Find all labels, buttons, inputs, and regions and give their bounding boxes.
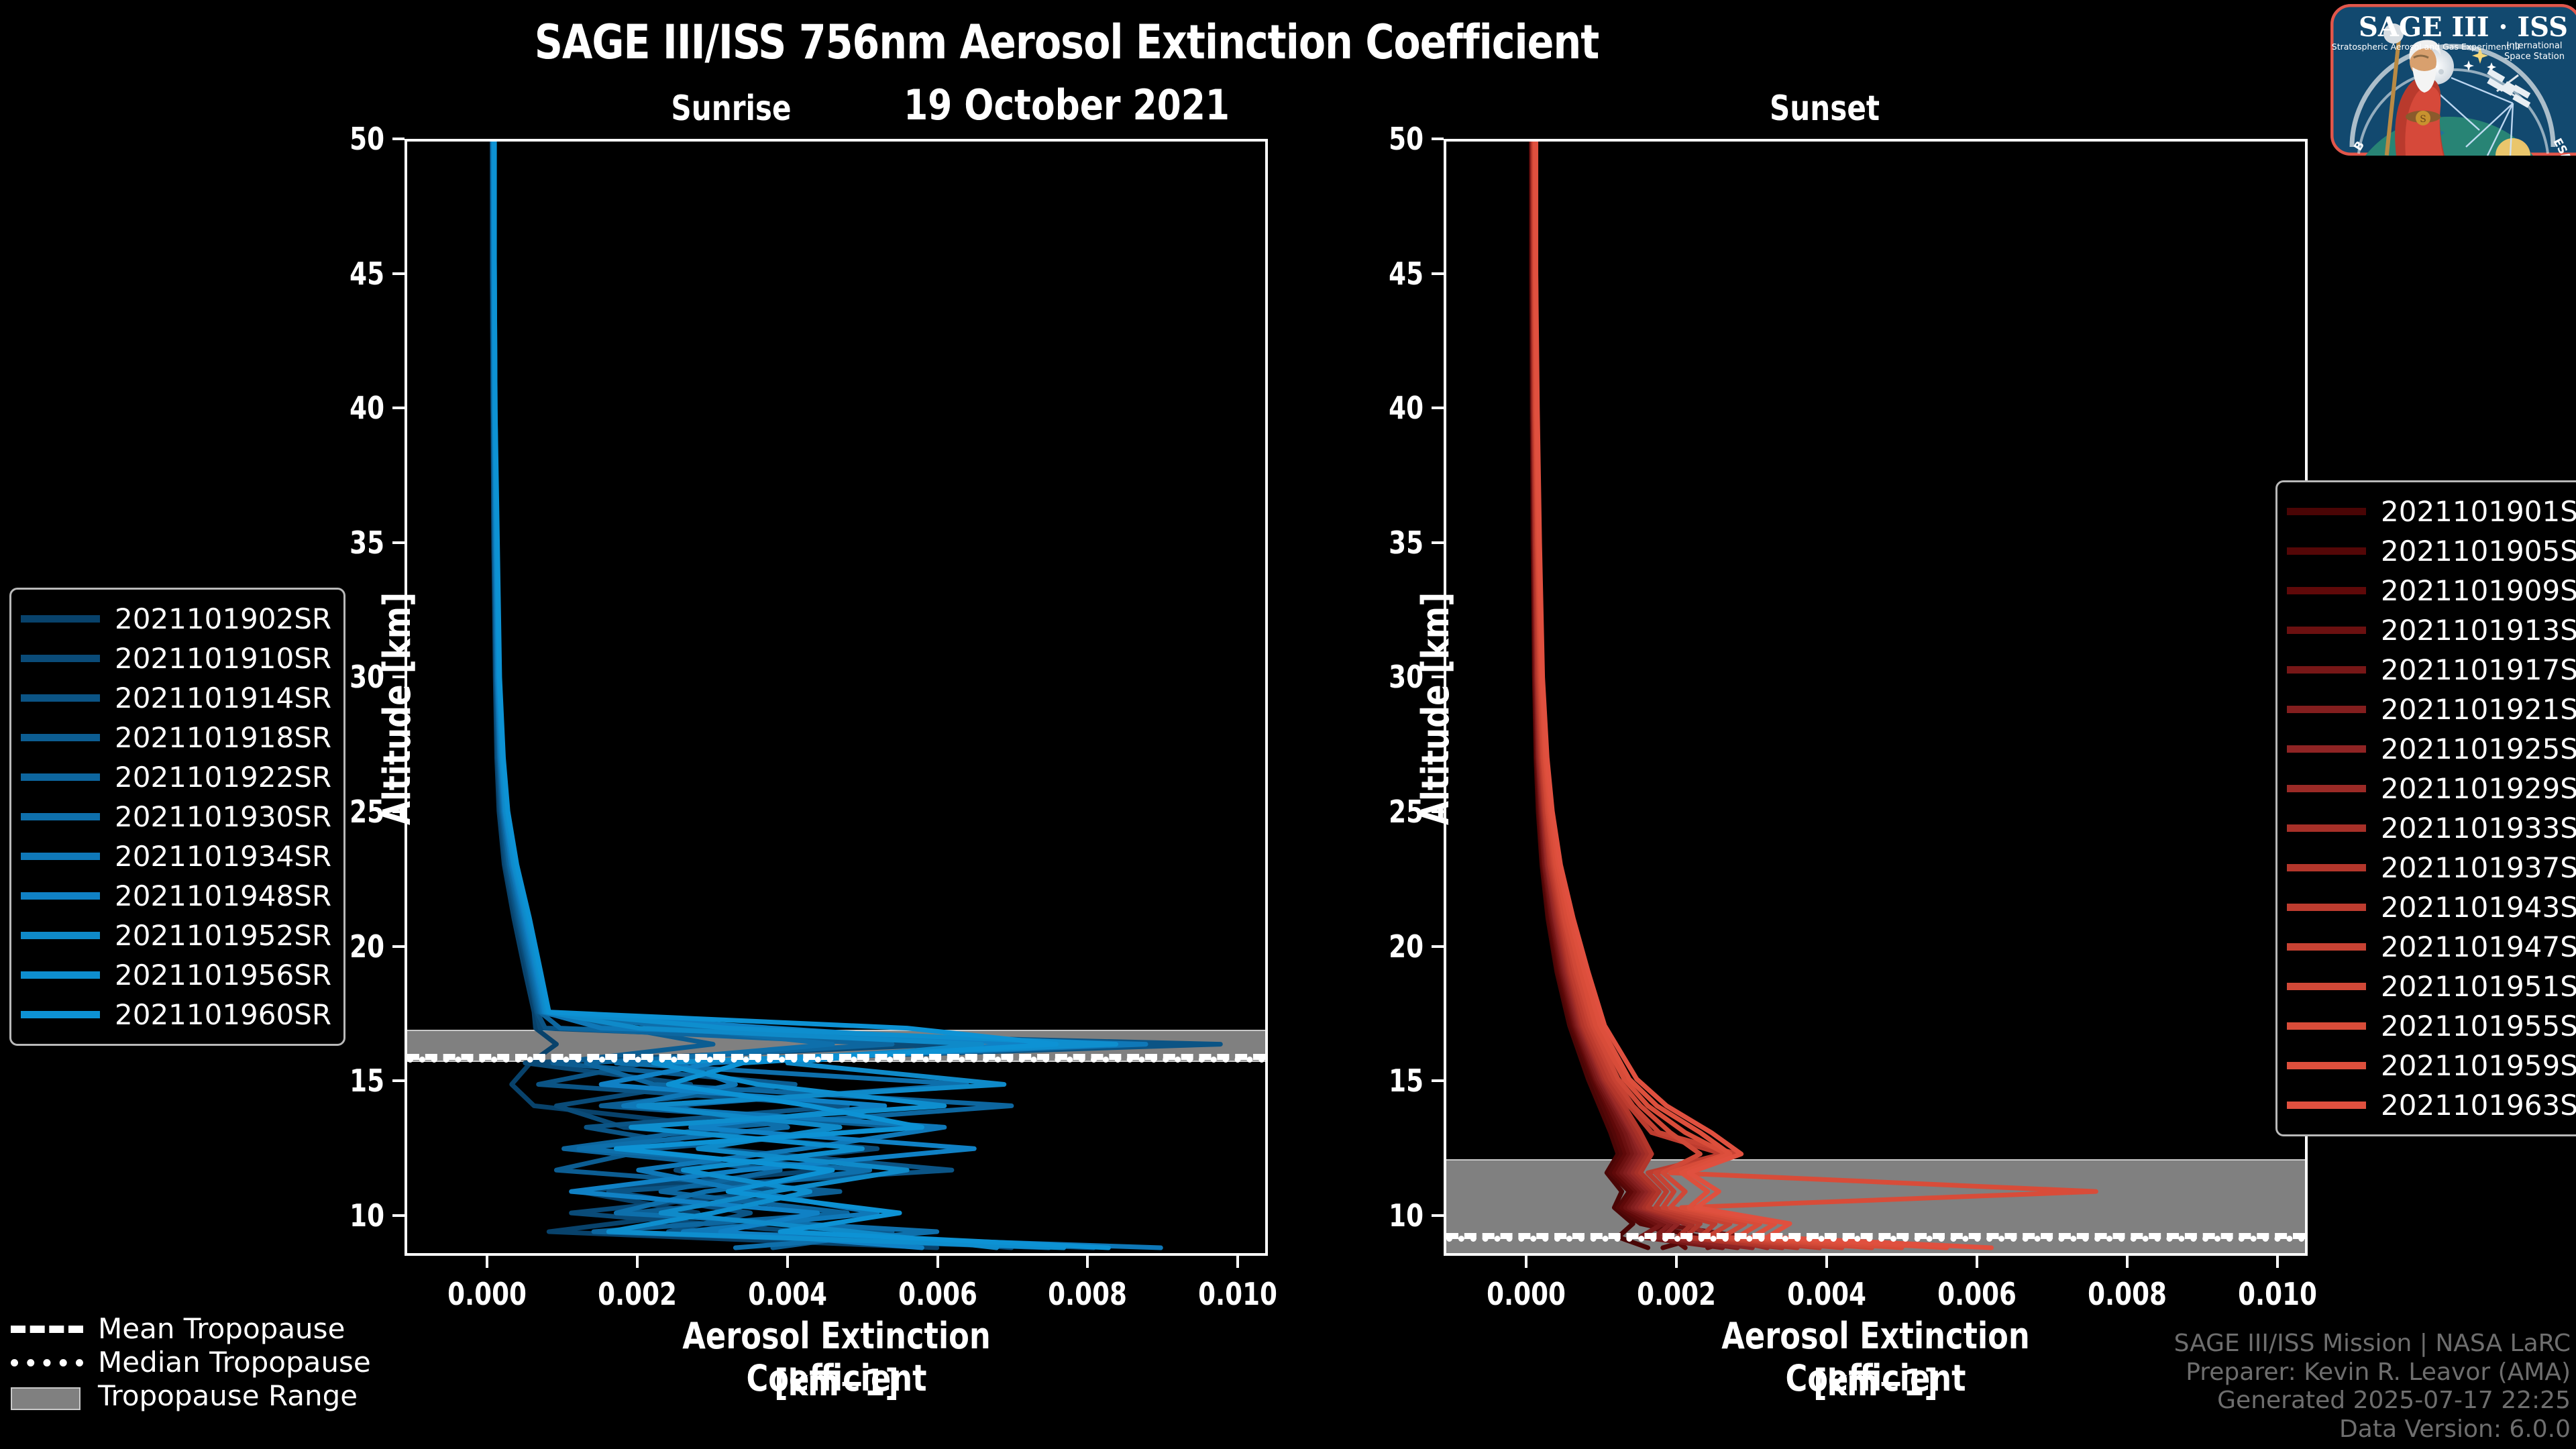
sunrise-ytick (392, 541, 405, 544)
sunrise-ytick (392, 1214, 405, 1217)
sunrise-xlabel: 0.010 (1171, 1276, 1304, 1312)
legend-label: 2021101905SS (2381, 535, 2576, 568)
legend-item[interactable]: 2021101921SS (2287, 690, 2576, 729)
legend-color-swatch (2287, 666, 2366, 674)
tropopause-band-marker-icon (11, 1387, 83, 1404)
sunset-xtick (1825, 1256, 1828, 1268)
legend-label: 2021101909SS (2381, 574, 2576, 607)
sunset-ytick (1432, 945, 1444, 948)
legend-item[interactable]: 2021101925SS (2287, 729, 2576, 769)
legend-color-swatch (2287, 547, 2366, 555)
tropopause-key-label: Median Tropopause (98, 1346, 371, 1379)
sunset-ytick (1432, 1214, 1444, 1217)
sunset-xlabel: 0.008 (2061, 1276, 2194, 1312)
legend-item[interactable]: 2021101934SR (21, 837, 331, 876)
profile-line (1534, 142, 1797, 1248)
profile-line (492, 142, 1220, 1248)
legend-color-swatch (21, 655, 100, 662)
sunrise-legend[interactable]: 2021101902SR2021101910SR2021101914SR2021… (9, 588, 345, 1046)
legend-item[interactable]: 2021101913SS (2287, 610, 2576, 650)
legend-color-swatch (21, 734, 100, 741)
sunrise-profile-lines (407, 142, 1265, 1253)
legend-label: 2021101963SS (2381, 1089, 2576, 1122)
legend-color-swatch (21, 694, 100, 702)
sunrise-ytick (392, 945, 405, 948)
legend-color-swatch (2287, 508, 2366, 515)
sunset-xlabel: 0.004 (1760, 1276, 1893, 1312)
legend-color-swatch (2287, 1022, 2366, 1030)
sunrise-ylabel: 15 (306, 1063, 384, 1099)
sunset-ylabel: 25 (1345, 794, 1424, 830)
tropopause-key: Mean TropopauseMedian TropopauseTropopau… (11, 1311, 371, 1412)
sunset-yaxis-title: Altitude [km] (1414, 592, 1458, 825)
patch-subtitle-left: Stratospheric Aerosol and Gas Experiment… (2332, 42, 2520, 52)
patch-subtitle-right-1: International (2507, 41, 2563, 51)
sunset-xlabel: 0.000 (1460, 1276, 1593, 1312)
legend-item[interactable]: 2021101910SR (21, 639, 331, 678)
legend-label: 2021101914SR (115, 682, 331, 714)
legend-color-swatch (2287, 1062, 2366, 1069)
sunrise-ytick (392, 138, 405, 140)
sunset-legend[interactable]: 2021101901SS2021101905SS2021101909SS2021… (2275, 480, 2576, 1136)
legend-color-swatch (21, 615, 100, 623)
credits-line: Generated 2025-07-17 22:25 (2174, 1387, 2571, 1415)
legend-item[interactable]: 2021101960SR (21, 995, 331, 1034)
legend-item[interactable]: 2021101963SS (2287, 1085, 2576, 1125)
sunset-ytick (1432, 407, 1444, 409)
legend-label: 2021101918SR (115, 721, 331, 754)
sunrise-ylabel: 45 (306, 256, 384, 292)
sunset-plot-area (1444, 139, 2308, 1256)
legend-item[interactable]: 2021101956SR (21, 955, 331, 995)
sunset-ylabel: 40 (1345, 390, 1424, 426)
tropopause-key-label: Mean Tropopause (98, 1312, 345, 1345)
legend-label: 2021101934SR (115, 840, 331, 873)
legend-color-swatch (2287, 627, 2366, 634)
sunset-xtick (1976, 1256, 1978, 1268)
legend-label: 2021101921SS (2381, 693, 2576, 726)
legend-label: 2021101947SS (2381, 930, 2576, 963)
sunset-xlabel: 0.010 (2211, 1276, 2344, 1312)
legend-item[interactable]: 2021101901SS (2287, 492, 2576, 531)
legend-label: 2021101902SR (115, 602, 331, 635)
legend-item[interactable]: 2021101952SR (21, 916, 331, 955)
legend-item[interactable]: 2021101930SR (21, 797, 331, 837)
sunset-ylabel: 45 (1345, 256, 1424, 292)
sunrise-xtick (1236, 1256, 1239, 1268)
sunrise-ylabel: 35 (306, 525, 384, 561)
page-title: SAGE III/ISS 756nm Aerosol Extinction Co… (74, 15, 2058, 70)
legend-item[interactable]: 2021101947SS (2287, 927, 2576, 967)
svg-text:S: S (2420, 114, 2426, 125)
tropopause-key-item: Median Tropopause (11, 1345, 371, 1379)
legend-item[interactable]: 2021101943SS (2287, 888, 2576, 927)
sunrise-ylabel: 40 (306, 390, 384, 426)
sunset-ylabel: 30 (1345, 659, 1424, 695)
legend-color-swatch (2287, 1102, 2366, 1109)
legend-color-swatch (2287, 904, 2366, 911)
sunrise-yaxis-title: Altitude [km] (376, 592, 419, 825)
sunset-ylabel: 50 (1345, 121, 1424, 157)
sunrise-xaxis-units: [km−1] (590, 1362, 1083, 1404)
legend-label: 2021101930SR (115, 800, 331, 833)
sunset-ytick (1432, 541, 1444, 544)
sunset-xtick (1525, 1256, 1527, 1268)
legend-item[interactable]: 2021101914SR (21, 678, 331, 718)
profile-line (494, 142, 1108, 1248)
sunrise-plot-area (405, 139, 1268, 1256)
tropopause-dashed-marker-icon (11, 1320, 83, 1337)
legend-color-swatch (2287, 943, 2366, 951)
sage-iii-iss-mission-patch-icon: S SAGE III · ISS Stratospheric Aerosol a… (2312, 3, 2576, 156)
legend-label: 2021101956SR (115, 959, 331, 991)
legend-item[interactable]: 2021101909SS (2287, 571, 2576, 610)
sunrise-xlabel: 0.006 (871, 1276, 1004, 1312)
sunset-ytick (1432, 138, 1444, 140)
legend-color-swatch (2287, 983, 2366, 990)
profile-line (493, 142, 1161, 1248)
legend-item[interactable]: 2021101937SS (2287, 848, 2576, 888)
legend-item[interactable]: 2021101922SR (21, 757, 331, 797)
sunrise-ytick (392, 407, 405, 409)
legend-label: 2021101952SR (115, 919, 331, 952)
legend-color-swatch (21, 932, 100, 939)
profile-line (1534, 142, 1872, 1248)
sunrise-ylabel: 50 (306, 121, 384, 157)
legend-label: 2021101943SS (2381, 891, 2576, 924)
legend-item[interactable]: 2021101959SS (2287, 1046, 2576, 1085)
legend-item[interactable]: 2021101955SS (2287, 1006, 2576, 1046)
legend-color-swatch (21, 773, 100, 781)
tropopause-key-item: Mean Tropopause (11, 1311, 371, 1345)
legend-color-swatch (21, 853, 100, 860)
legend-item[interactable]: 2021101951SS (2287, 967, 2576, 1006)
profile-line (1534, 142, 1842, 1248)
sunset-xtick (1675, 1256, 1678, 1268)
sunset-median-tropopause-line (1446, 1236, 2305, 1242)
sunset-ytick (1432, 1079, 1444, 1082)
legend-item[interactable]: 2021101929SS (2287, 769, 2576, 808)
legend-label: 2021101959SS (2381, 1049, 2576, 1082)
sunrise-ytick (392, 272, 405, 275)
patch-subtitle-right-2: Space Station (2504, 52, 2565, 62)
legend-color-swatch (2287, 824, 2366, 832)
legend-color-swatch (21, 813, 100, 820)
profile-line (1533, 142, 1767, 1248)
sunrise-xtick (1086, 1256, 1089, 1268)
sunset-ylabel: 35 (1345, 525, 1424, 561)
tropopause-dotted-marker-icon (11, 1353, 83, 1371)
credits-line: SAGE III/ISS Mission | NASA LaRC (2174, 1330, 2571, 1358)
legend-label: 2021101933SS (2381, 812, 2576, 845)
legend-label: 2021101937SS (2381, 851, 2576, 884)
legend-color-swatch (2287, 864, 2366, 871)
legend-item[interactable]: 2021101918SR (21, 718, 331, 757)
profile-line (494, 142, 1116, 1248)
legend-label: 2021101917SS (2381, 653, 2576, 686)
sunset-panel-title: Sunset (1734, 89, 1915, 129)
legend-label: 2021101929SS (2381, 772, 2576, 805)
legend-item[interactable]: 2021101905SS (2287, 531, 2576, 571)
sunrise-xlabel: 0.008 (1021, 1276, 1154, 1312)
legend-item[interactable]: 2021101933SS (2287, 808, 2576, 848)
legend-item[interactable]: 2021101902SR (21, 599, 331, 639)
sunrise-xlabel: 0.000 (421, 1276, 553, 1312)
patch-title: SAGE III · ISS (2359, 11, 2568, 43)
legend-color-swatch (2287, 587, 2366, 594)
sunset-xtick (2276, 1256, 2279, 1268)
sunset-profile-lines (1446, 142, 2305, 1253)
legend-label: 2021101955SS (2381, 1010, 2576, 1042)
sunrise-xtick (936, 1256, 939, 1268)
sunrise-xlabel: 0.002 (571, 1276, 704, 1312)
sunrise-xtick (786, 1256, 789, 1268)
legend-color-swatch (2287, 706, 2366, 713)
credits-line: Data Version: 6.0.0 (2174, 1415, 2571, 1444)
legend-item[interactable]: 2021101948SR (21, 876, 331, 916)
sunset-ytick (1432, 272, 1444, 275)
legend-color-swatch (21, 1011, 100, 1018)
sunrise-ytick (392, 1079, 405, 1082)
legend-label: 2021101910SR (115, 642, 331, 675)
sunrise-xtick (486, 1256, 488, 1268)
legend-label: 2021101922SR (115, 761, 331, 794)
sunset-xlabel: 0.006 (1911, 1276, 2043, 1312)
profile-line (1533, 142, 1782, 1248)
profile-line (1534, 142, 1819, 1248)
legend-color-swatch (21, 971, 100, 979)
sunset-ylabel: 15 (1345, 1063, 1424, 1099)
legend-color-swatch (2287, 745, 2366, 753)
sunrise-xlabel: 0.004 (721, 1276, 854, 1312)
legend-label: 2021101948SR (115, 879, 331, 912)
sunset-xlabel: 0.002 (1610, 1276, 1743, 1312)
sunrise-ylabel: 10 (306, 1197, 384, 1234)
legend-label: 2021101925SS (2381, 733, 2576, 765)
legend-color-swatch (2287, 785, 2366, 792)
tropopause-key-label: Tropopause Range (98, 1379, 358, 1412)
sunset-xtick (2126, 1256, 2129, 1268)
legend-item[interactable]: 2021101917SS (2287, 650, 2576, 690)
legend-label: 2021101960SR (115, 998, 331, 1031)
tropopause-key-item: Tropopause Range (11, 1379, 371, 1412)
sunset-xaxis-units: [km−1] (1629, 1362, 2123, 1404)
credits-block: SAGE III/ISS Mission | NASA LaRCPreparer… (2174, 1330, 2571, 1444)
legend-label: 2021101901SS (2381, 495, 2576, 528)
sunset-ylabel: 20 (1345, 928, 1424, 965)
legend-label: 2021101951SS (2381, 970, 2576, 1003)
sunrise-panel-title: Sunrise (641, 89, 822, 129)
sunset-ylabel: 10 (1345, 1197, 1424, 1234)
legend-color-swatch (21, 892, 100, 900)
legend-label: 2021101913SS (2381, 614, 2576, 647)
sunrise-median-tropopause-line (407, 1057, 1265, 1063)
sunrise-xtick (636, 1256, 639, 1268)
credits-line: Preparer: Kevin R. Leavor (AMA) (2174, 1358, 2571, 1387)
